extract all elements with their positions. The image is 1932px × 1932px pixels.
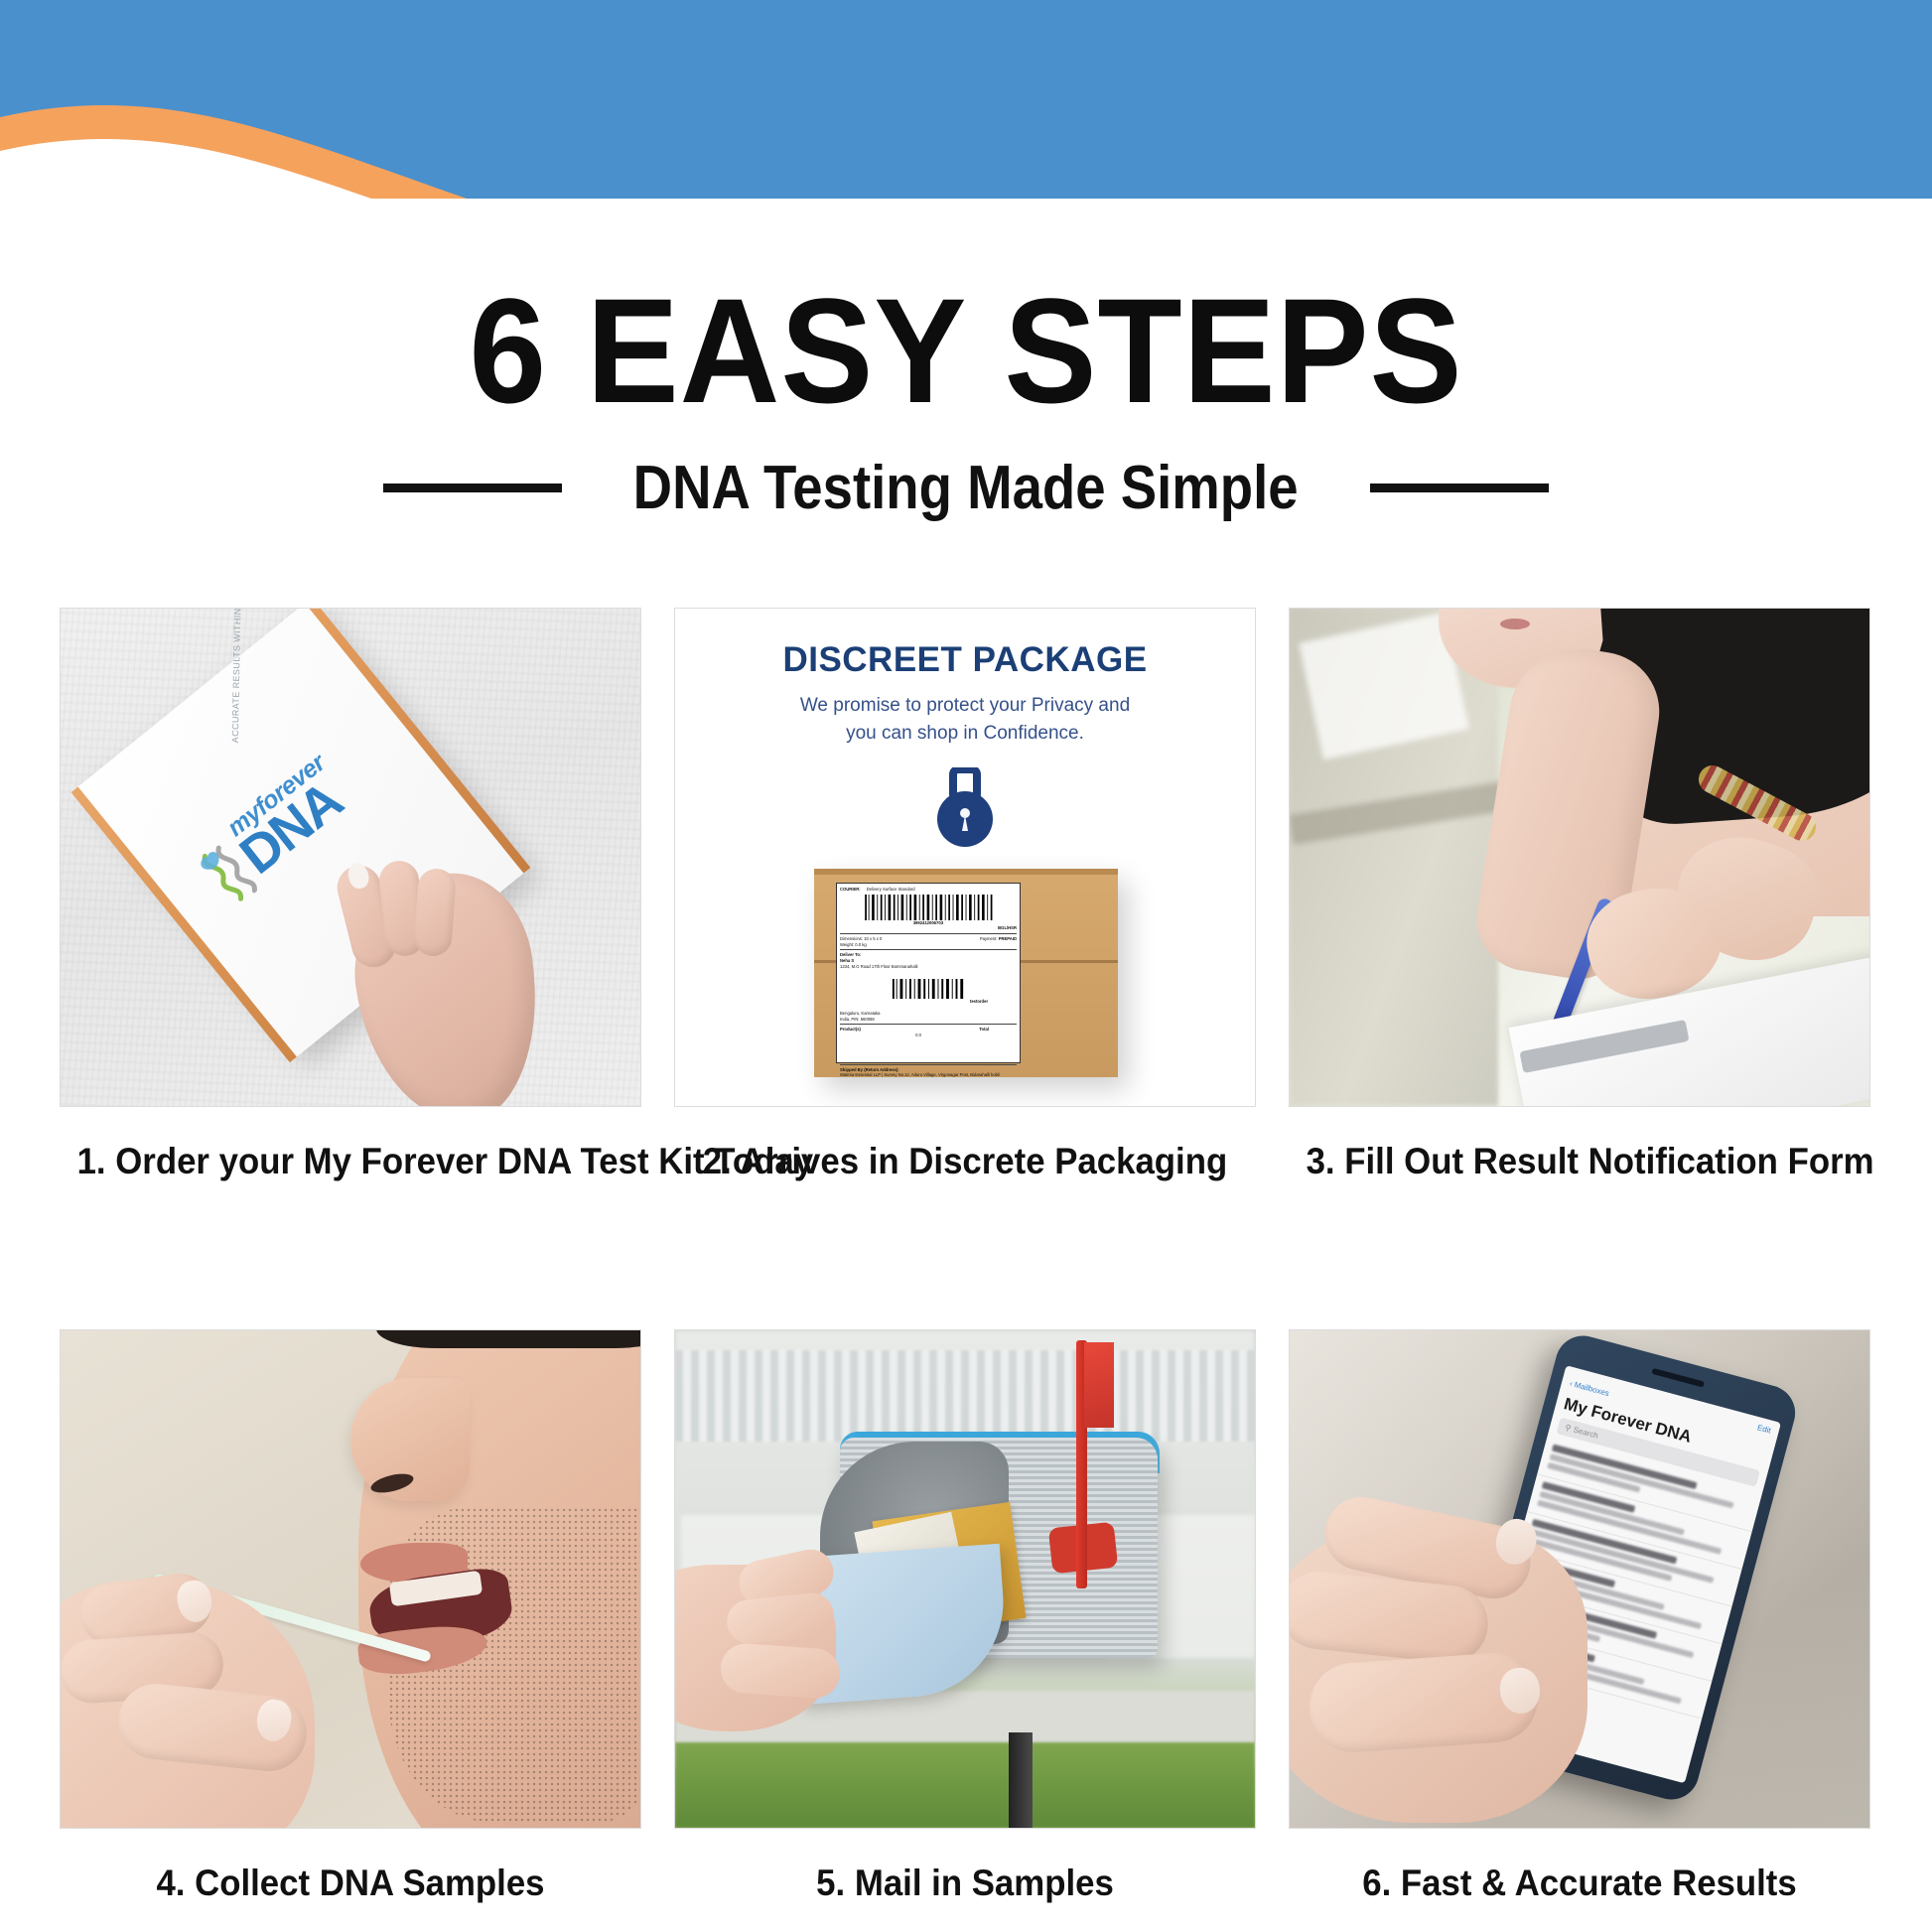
mailbox-post bbox=[1009, 1732, 1033, 1828]
search-placeholder: Search bbox=[1573, 1425, 1599, 1440]
step-caption-1: 1. Order your My Forever DNA Test Kit To… bbox=[77, 1141, 624, 1182]
finger bbox=[413, 868, 457, 957]
label-weight: Weight: 0.0 kg bbox=[840, 942, 1017, 948]
background-balcony-railing bbox=[675, 1350, 1255, 1442]
woman-lips bbox=[1500, 619, 1530, 629]
step-card-6: ‹ Mailboxes Edit My Forever DNA ⚲ Search bbox=[1289, 1329, 1870, 1904]
label-courier-key: COURIER: bbox=[840, 887, 861, 893]
man-hair bbox=[376, 1329, 641, 1348]
label-divider bbox=[840, 933, 1017, 934]
step-card-2: DISCREET PACKAGE We promise to protect y… bbox=[674, 608, 1256, 1182]
step-caption-3: 3. Fill Out Result Notification Form bbox=[1307, 1141, 1854, 1182]
discreet-package-heading: DISCREET PACKAGE bbox=[675, 640, 1255, 680]
discreet-package-subtext: We promise to protect your Privacy and y… bbox=[675, 692, 1255, 747]
page-subtitle: DNA Testing Made Simple bbox=[633, 453, 1299, 523]
step-card-5: 5. Mail in Samples bbox=[674, 1329, 1256, 1904]
label-divider bbox=[840, 949, 1017, 950]
label-payment: Payment: PREPAID bbox=[980, 936, 1017, 942]
label-total-key: Total bbox=[979, 1027, 1017, 1033]
step-image-3 bbox=[1289, 608, 1870, 1107]
steps-grid: myforever DNA ACCURATE RESULTS WITHIN 1 … bbox=[60, 608, 1872, 1904]
label-courier-value: Delivery Surface Standard bbox=[861, 887, 1017, 893]
thumb bbox=[719, 1642, 841, 1700]
steps-row-2: 4. Collect DNA Samples bbox=[60, 1329, 1872, 1904]
step-caption-5: 5. Mail in Samples bbox=[692, 1863, 1239, 1904]
kit-box-tagline: ACCURATE RESULTS WITHIN 1 TO 3 BUSINESS … bbox=[230, 608, 244, 743]
cardboard-parcel: COURIER: Delivery Surface Standard bbox=[814, 869, 1118, 1077]
tracking-barcode bbox=[860, 895, 998, 920]
label-hub-code: BGL/HSR bbox=[840, 925, 1017, 931]
label-return-value: Wateria Essential LLP | Survey No.12, Ad… bbox=[840, 1072, 1017, 1078]
search-icon: ⚲ bbox=[1564, 1423, 1572, 1433]
page-title: 6 EASY STEPS bbox=[68, 276, 1864, 425]
discreet-subtext-line1: We promise to protect your Privacy and bbox=[800, 695, 1130, 716]
subtitle-rule-right bbox=[1370, 483, 1549, 492]
edit-button[interactable]: Edit bbox=[1756, 1423, 1772, 1435]
label-recipient-pin: India, PIN: 560068 bbox=[840, 1017, 1017, 1023]
label-divider bbox=[840, 1024, 1017, 1025]
padlock-icon bbox=[933, 767, 997, 849]
label-order-barcode-text: testorder bbox=[941, 999, 1017, 1005]
step-card-4: 4. Collect DNA Samples bbox=[60, 1329, 641, 1904]
label-recipient-address: 1234, M.G Road 17th Floor Bommanahalli bbox=[840, 964, 1017, 970]
step-caption-4: 4. Collect DNA Samples bbox=[77, 1863, 624, 1904]
label-divider bbox=[840, 1064, 1017, 1065]
header-wave-banner bbox=[0, 0, 1932, 199]
subtitle-rule-left bbox=[383, 483, 562, 492]
step-image-6: ‹ Mailboxes Edit My Forever DNA ⚲ Search bbox=[1289, 1329, 1870, 1829]
myforever-dna-logo: myforever DNA bbox=[188, 751, 358, 905]
parcel-top-edge bbox=[814, 869, 1118, 875]
phone-speaker bbox=[1651, 1368, 1705, 1388]
step-caption-6: 6. Fast & Accurate Results bbox=[1307, 1863, 1854, 1904]
label-courier-row: COURIER: Delivery Surface Standard bbox=[840, 887, 1017, 893]
step-image-1: myforever DNA ACCURATE RESULTS WITHIN 1 … bbox=[60, 608, 641, 1107]
step-image-2: DISCREET PACKAGE We promise to protect y… bbox=[674, 608, 1256, 1107]
step-caption-2: 2. Arrives in Discrete Packaging bbox=[692, 1141, 1239, 1182]
title-block: 6 EASY STEPS DNA Testing Made Simple bbox=[0, 276, 1932, 523]
label-total-value: 0.0 bbox=[840, 1033, 1017, 1038]
shipping-label: COURIER: Delivery Surface Standard bbox=[836, 883, 1021, 1063]
steps-row-1: myforever DNA ACCURATE RESULTS WITHIN 1 … bbox=[60, 608, 1872, 1182]
background-grass bbox=[675, 1742, 1255, 1828]
step-image-5 bbox=[674, 1329, 1256, 1829]
label-products-key: Product(s) bbox=[840, 1027, 861, 1033]
subtitle-row: DNA Testing Made Simple bbox=[0, 453, 1932, 523]
step-card-1: myforever DNA ACCURATE RESULTS WITHIN 1 … bbox=[60, 608, 641, 1182]
step-card-3: 3. Fill Out Result Notification Form bbox=[1289, 608, 1870, 1182]
step-image-4 bbox=[60, 1329, 641, 1829]
order-barcode bbox=[891, 979, 966, 999]
mailbox-red-flag bbox=[1084, 1342, 1114, 1428]
discreet-subtext-line2: you can shop in Confidence. bbox=[846, 723, 1084, 744]
